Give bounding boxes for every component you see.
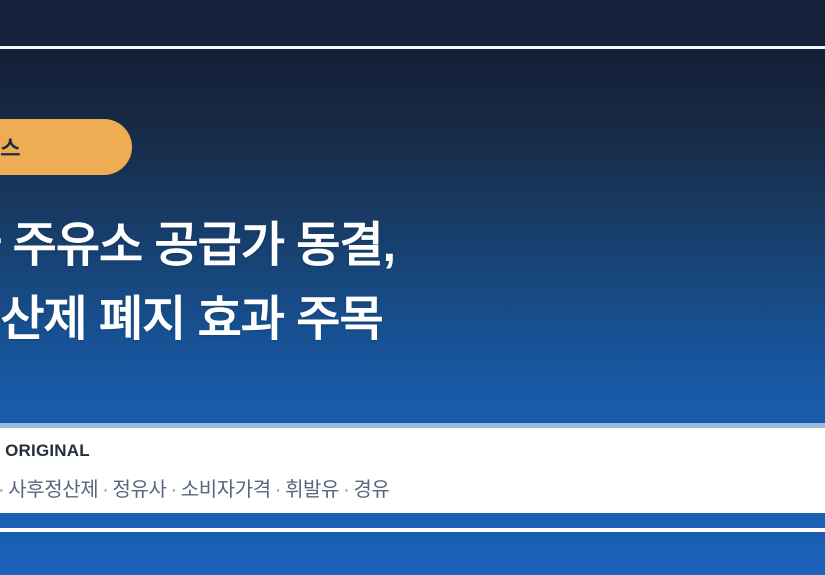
article-tag-list: 동결·사후정산제·정유사·소비자가격·휘발유·경유 xyxy=(0,473,389,502)
article-tag[interactable]: 정유사 xyxy=(113,479,167,501)
tag-separator: · xyxy=(339,479,353,501)
article-tag[interactable]: 휘발유 xyxy=(285,479,339,501)
category-badge-label: 스 xyxy=(0,131,20,163)
tag-separator: · xyxy=(98,479,112,501)
article-source-label: E2 ORIGINAL xyxy=(0,441,90,461)
headline-line-1: 유사 주유소 공급가 동결, xyxy=(0,209,674,283)
article-tag[interactable]: 사후정산제 xyxy=(8,479,98,501)
article-meta-band: E2 ORIGINAL 동결·사후정산제·정유사·소비자가격·휘발유·경유 xyxy=(0,428,825,513)
footer-bar-top xyxy=(0,513,825,528)
page-root: 스 유사 주유소 공급가 동결, 후정산제 폐지 효과 주목 E2 ORIGIN… xyxy=(0,0,825,575)
category-badge[interactable]: 스 xyxy=(0,119,132,175)
top-navigation-bar xyxy=(0,0,825,46)
tag-separator: · xyxy=(167,479,181,501)
headline-line-2: 후정산제 폐지 효과 주목 xyxy=(0,283,674,357)
footer-bar-bottom xyxy=(0,532,825,575)
article-tag[interactable]: 경유 xyxy=(353,479,389,501)
article-tag[interactable]: 소비자가격 xyxy=(181,479,271,501)
hero-banner: 스 유사 주유소 공급가 동결, 후정산제 폐지 효과 주목 xyxy=(0,49,825,423)
article-headline: 유사 주유소 공급가 동결, 후정산제 폐지 효과 주목 xyxy=(0,209,674,357)
tag-separator: · xyxy=(271,479,285,501)
